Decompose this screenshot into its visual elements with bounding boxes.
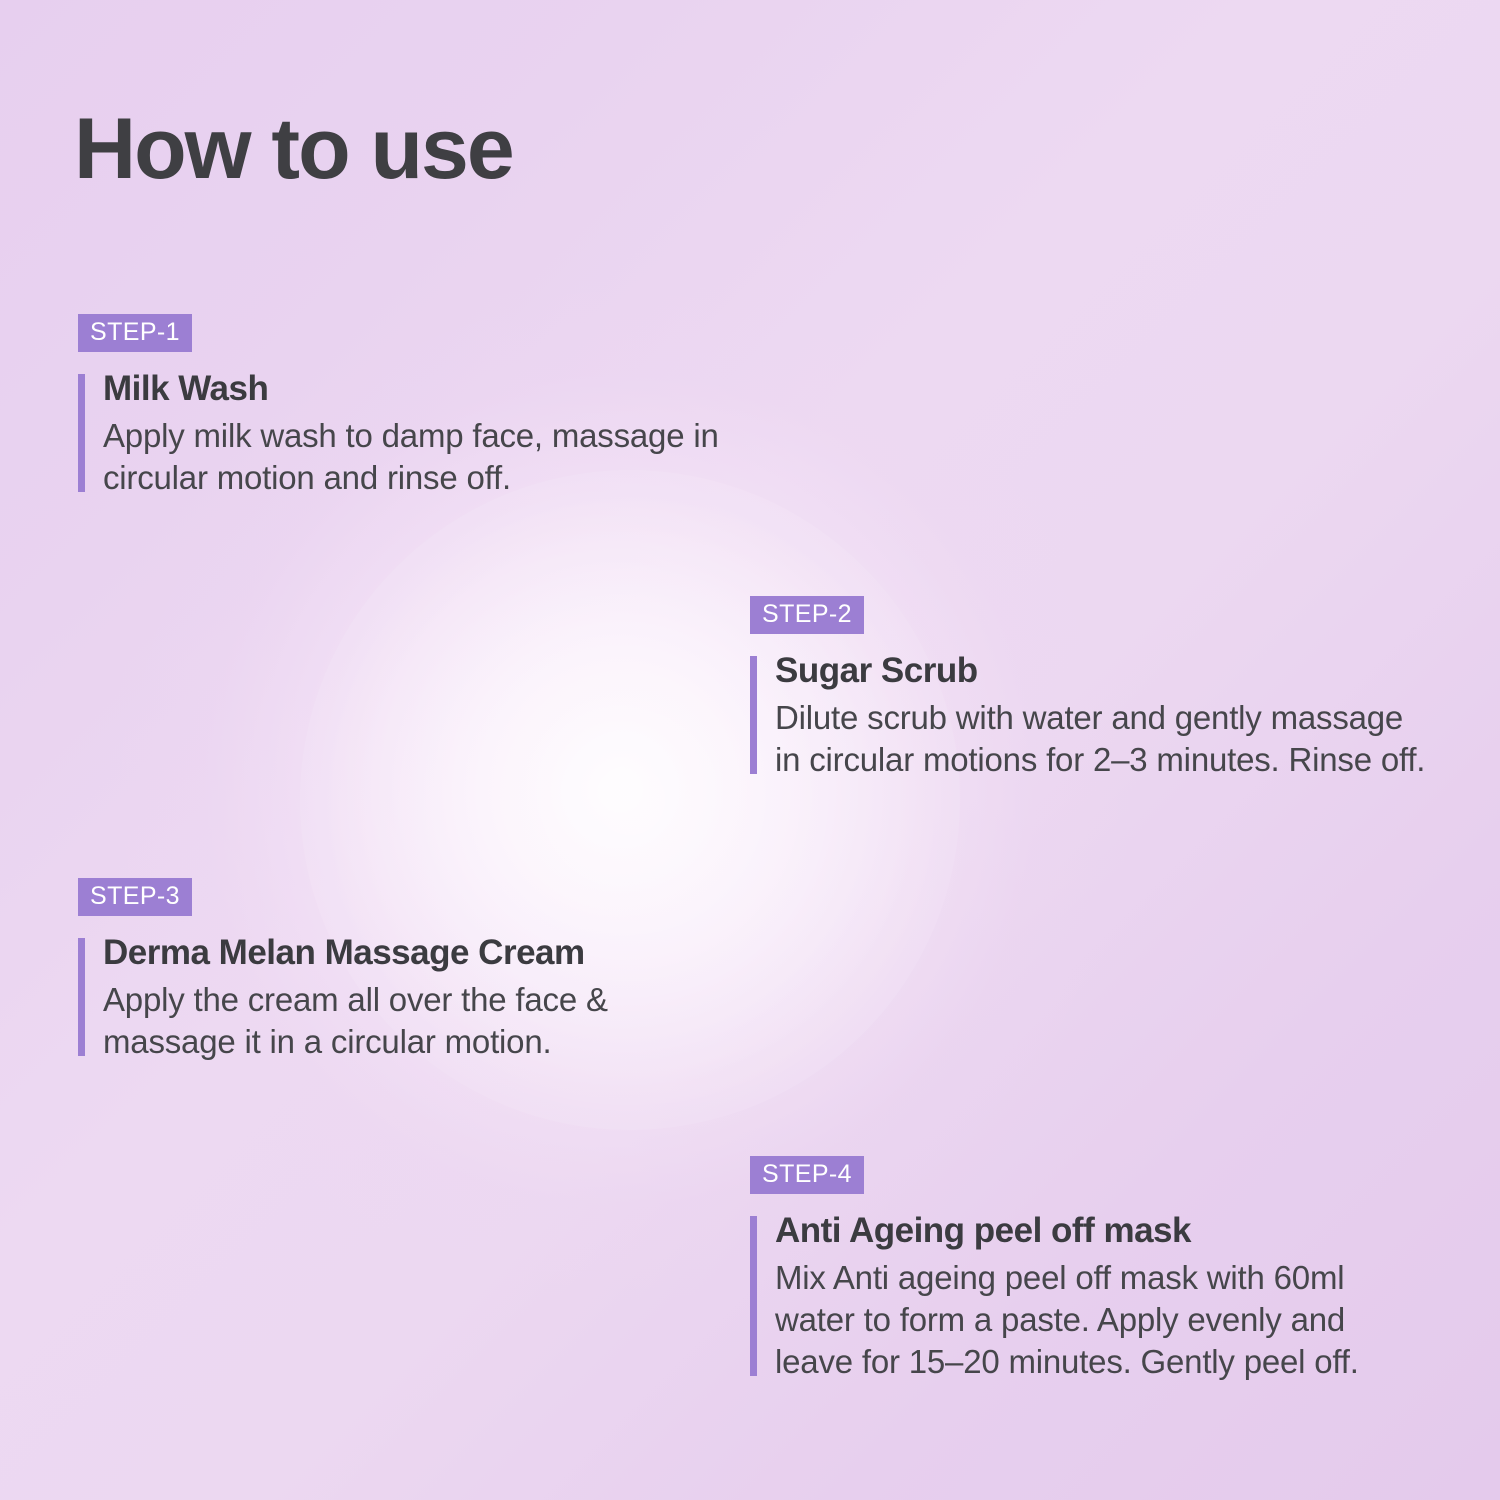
step-body-4: Anti Ageing peel off mask Mix Anti agein…: [750, 1210, 1359, 1383]
step-title-3: Derma Melan Massage Cream: [103, 932, 608, 975]
step-item-1: STEP-1 Milk Wash Apply milk wash to damp…: [78, 314, 719, 499]
accent-bar-icon: [750, 656, 757, 774]
step-description-3: Apply the cream all over the face & mass…: [103, 979, 608, 1063]
accent-bar-icon: [78, 374, 85, 492]
page-title: How to use: [74, 106, 513, 192]
step-description-1: Apply milk wash to damp face, massage in…: [103, 415, 719, 499]
step-body-1: Milk Wash Apply milk wash to damp face, …: [78, 368, 719, 499]
step-description-2: Dilute scrub with water and gently massa…: [775, 697, 1425, 781]
step-item-3: STEP-3 Derma Melan Massage Cream Apply t…: [78, 878, 608, 1063]
step-badge-2: STEP-2: [750, 596, 864, 634]
step-body-3: Derma Melan Massage Cream Apply the crea…: [78, 932, 608, 1063]
how-to-use-poster: How to use STEP-1 Milk Wash Apply milk w…: [0, 0, 1500, 1500]
step-badge-1: STEP-1: [78, 314, 192, 352]
accent-bar-icon: [78, 938, 85, 1056]
step-item-2: STEP-2 Sugar Scrub Dilute scrub with wat…: [750, 596, 1425, 781]
step-title-2: Sugar Scrub: [775, 650, 1425, 693]
accent-bar-icon: [750, 1216, 757, 1376]
step-badge-3: STEP-3: [78, 878, 192, 916]
step-badge-4: STEP-4: [750, 1156, 864, 1194]
step-item-4: STEP-4 Anti Ageing peel off mask Mix Ant…: [750, 1156, 1359, 1383]
step-body-2: Sugar Scrub Dilute scrub with water and …: [750, 650, 1425, 781]
step-description-4: Mix Anti ageing peel off mask with 60ml …: [775, 1257, 1359, 1384]
step-title-1: Milk Wash: [103, 368, 719, 411]
step-title-4: Anti Ageing peel off mask: [775, 1210, 1359, 1253]
